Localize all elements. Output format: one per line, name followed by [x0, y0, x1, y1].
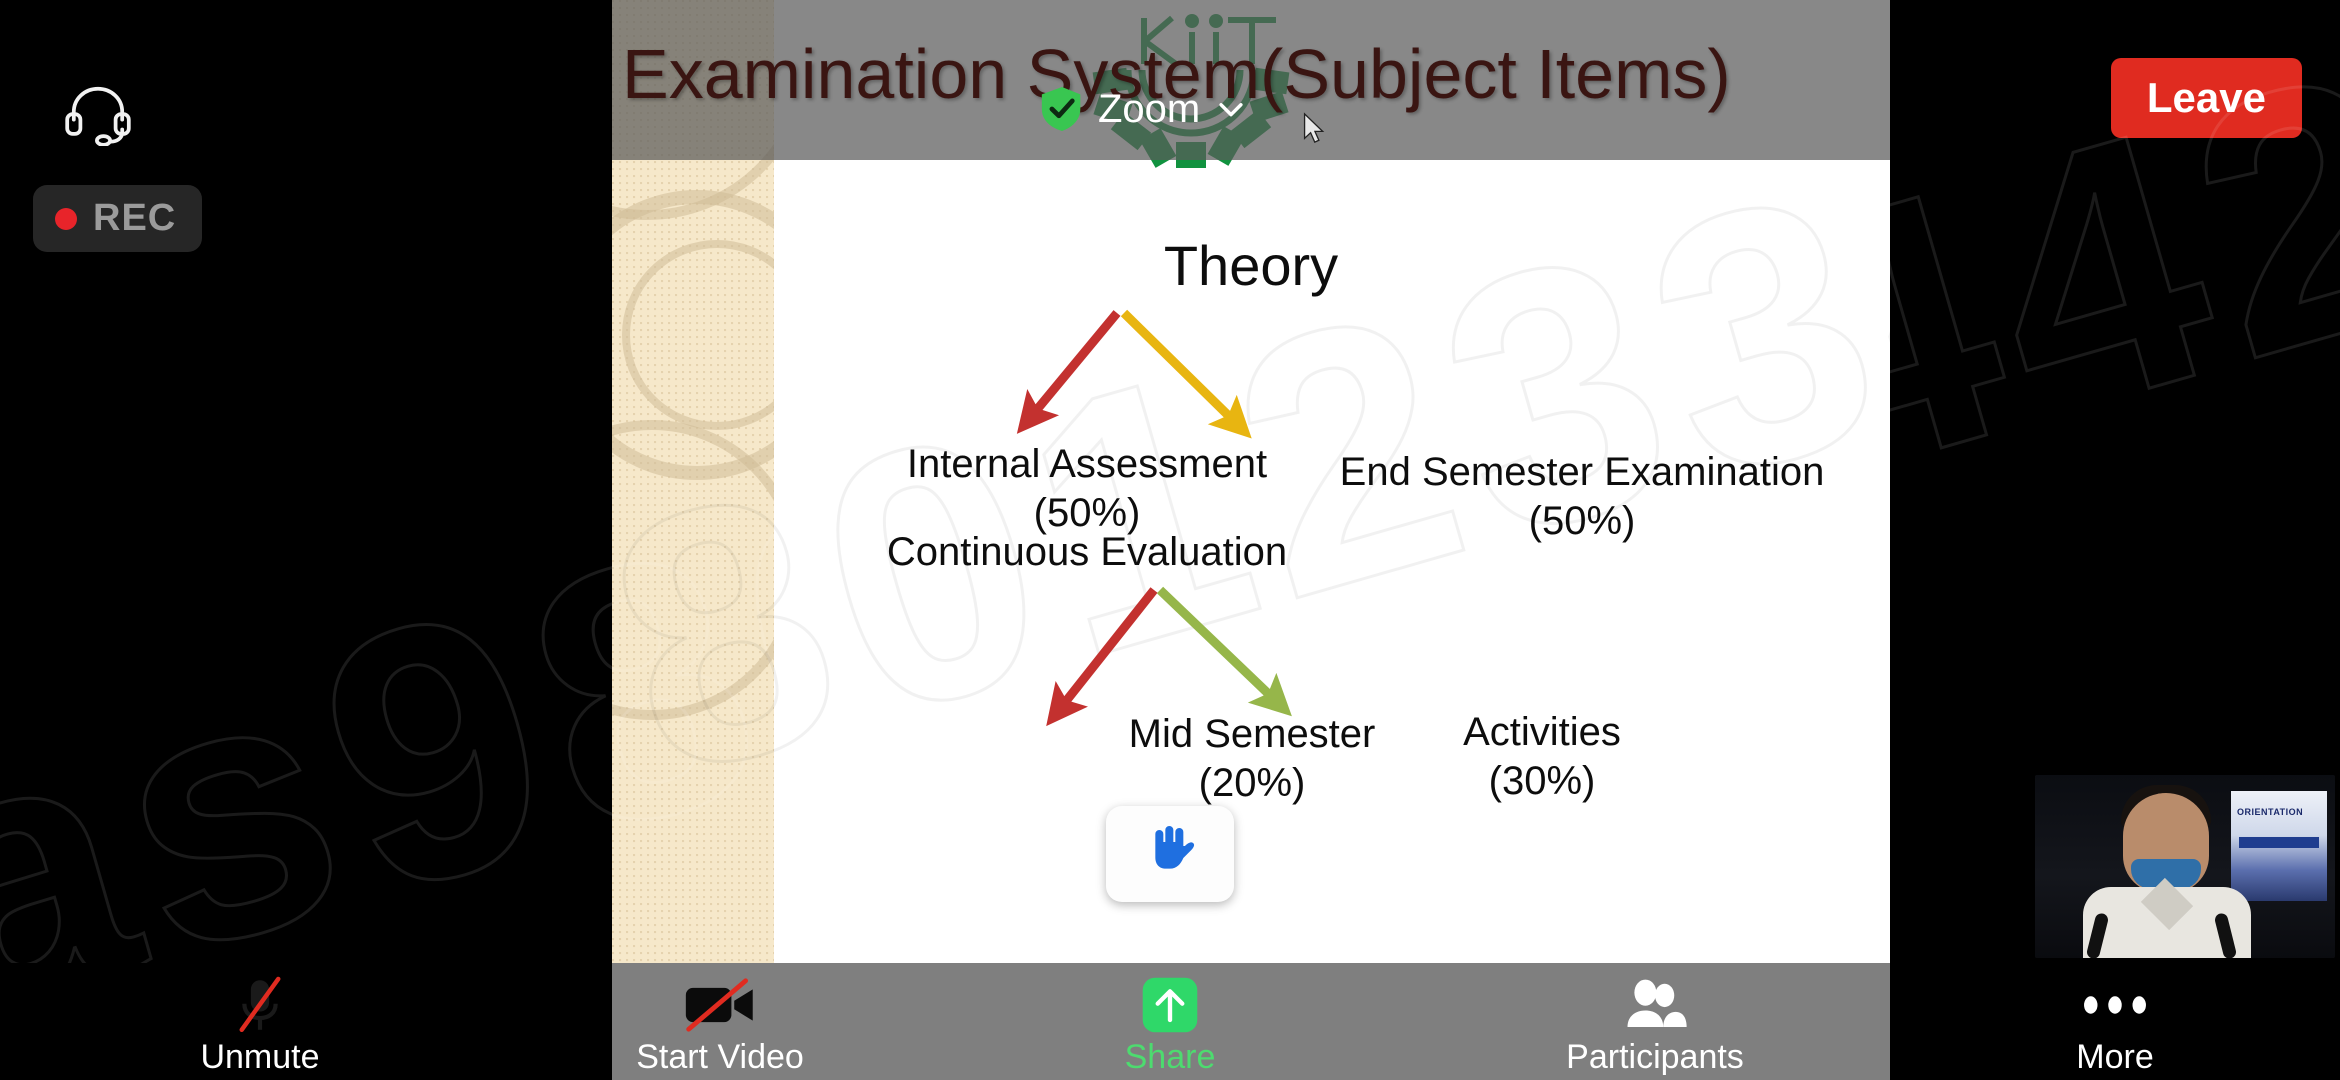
share-screen-icon [1140, 974, 1200, 1036]
participants-icon [1622, 974, 1688, 1036]
shield-check-icon [1040, 85, 1084, 133]
start-video-label: Start Video [636, 1040, 804, 1074]
more-label: More [2076, 1040, 2153, 1074]
diagram-node-internal-assessment: Internal Assessment (50%) [857, 440, 1317, 538]
headset-icon[interactable] [62, 80, 134, 146]
node-label: Continuous Evaluation [887, 530, 1287, 574]
background-slide-bar [2239, 837, 2319, 848]
meeting-security-status[interactable]: Zoom [1040, 85, 1248, 133]
diagram-node-mid-semester: Mid Semester (20%) [1092, 710, 1412, 808]
recording-label: REC [93, 197, 176, 240]
diagram-node-activities: Activities (30%) [1402, 708, 1682, 806]
meeting-toolbar: Unmute Start Video Share [0, 963, 2340, 1080]
raised-hand-icon [1139, 822, 1201, 886]
node-label: Internal Assessment [907, 442, 1267, 486]
participant-video-thumbnail[interactable]: ORIENTATION [2035, 775, 2335, 958]
mouse-cursor [1302, 112, 1326, 144]
start-video-button[interactable]: Start Video [600, 963, 840, 1080]
leave-button[interactable]: Leave [2111, 58, 2302, 138]
raise-hand-button[interactable] [1106, 806, 1234, 902]
diagram-node-continuous-evaluation: Continuous Evaluation [857, 528, 1317, 577]
zoom-meeting-window: as9801233442 REC as9801233442 [0, 0, 2340, 1080]
node-label: End Semester Examination [1340, 450, 1825, 494]
share-button[interactable]: Share [1060, 963, 1280, 1080]
share-label: Share [1125, 1040, 1216, 1074]
unmute-label: Unmute [200, 1040, 319, 1074]
meeting-top-bar: Examination System(Subject Items) [612, 0, 1890, 160]
diagram-node-end-semester: End Semester Examination (50%) [1302, 448, 1862, 546]
node-label: Activities [1463, 710, 1621, 754]
recording-badge[interactable]: REC [33, 185, 202, 252]
node-label: Theory [1164, 234, 1338, 297]
diagram-node-theory: Theory [612, 232, 1890, 300]
participants-label: Participants [1566, 1040, 1744, 1074]
unmute-button[interactable]: Unmute [160, 963, 360, 1080]
more-dots-icon [2080, 974, 2150, 1036]
node-label: Mid Semester [1129, 712, 1376, 756]
node-percent: (50%) [1302, 497, 1862, 546]
app-name-label: Zoom [1098, 87, 1200, 132]
more-button[interactable]: More [2000, 963, 2230, 1080]
video-off-icon [683, 974, 757, 1036]
background-slide-text: ORIENTATION [2237, 807, 2303, 817]
background-presentation-slide: ORIENTATION [2231, 791, 2327, 901]
microphone-muted-icon [233, 974, 287, 1036]
chevron-down-icon[interactable] [1214, 92, 1248, 126]
record-dot-icon [55, 208, 77, 230]
node-percent: (20%) [1092, 759, 1412, 808]
participants-button[interactable]: Participants [1520, 963, 1790, 1080]
node-percent: (30%) [1402, 757, 1682, 806]
